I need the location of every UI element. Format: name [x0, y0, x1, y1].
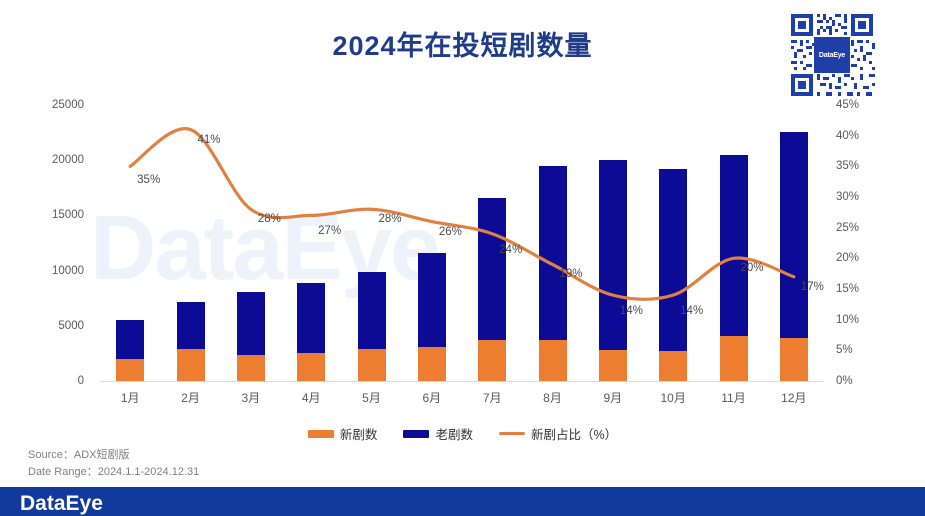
date-range-line: Date Range：2024.1.1-2024.12.31	[28, 464, 199, 481]
legend-item[interactable]: 老剧数	[403, 424, 473, 443]
x-axis-tick-label: 5月	[362, 389, 381, 406]
x-axis-tick-label: 2月	[181, 389, 200, 406]
legend-bar-swatch	[403, 430, 429, 438]
y-axis-left-tick: 20000	[52, 154, 84, 166]
line-point-label: 14%	[620, 305, 643, 317]
y-axis-right-tick: 10%	[836, 314, 859, 326]
line-point-label: 28%	[258, 213, 281, 225]
x-axis-tick-label: 1月	[121, 389, 140, 406]
qr-code[interactable]: DataEye	[786, 9, 878, 101]
y-axis-left-tick: 5000	[58, 320, 84, 332]
line-point-label: 19%	[560, 268, 583, 280]
bottom-brand-bar	[0, 487, 925, 516]
x-axis-tick-label: 12月	[781, 389, 806, 406]
x-axis-tick-label: 8月	[543, 389, 562, 406]
y-axis-right-tick: 25%	[836, 222, 859, 234]
line-point-label: 35%	[137, 174, 160, 186]
legend-line-swatch	[499, 432, 525, 435]
x-axis-labels: 1月2月3月4月5月6月7月8月9月10月11月12月	[100, 389, 824, 411]
axis-baseline	[100, 381, 824, 382]
legend-label: 老剧数	[435, 424, 473, 443]
line-point-label: 24%	[499, 244, 522, 256]
line-point-label: 41%	[198, 134, 221, 146]
source-note: Source：ADX短剧版 Date Range：2024.1.1-2024.1…	[28, 447, 199, 481]
line-point-label: 28%	[379, 213, 402, 225]
y-axis-left-tick: 15000	[52, 209, 84, 221]
y-axis-left-tick: 25000	[52, 99, 84, 111]
y-axis-right-tick: 45%	[836, 99, 859, 111]
y-axis-right: 0%5%10%15%20%25%30%35%40%45%	[828, 105, 898, 381]
legend-bar-swatch	[308, 430, 334, 438]
y-axis-right-tick: 30%	[836, 191, 859, 203]
x-axis-tick-label: 7月	[483, 389, 502, 406]
line-series-layer	[100, 105, 824, 381]
qr-center-logo: DataEye	[814, 37, 850, 73]
x-axis-tick-label: 6月	[422, 389, 441, 406]
x-axis-tick-label: 10月	[660, 389, 685, 406]
y-axis-right-tick: 5%	[836, 344, 853, 356]
line-point-label: 14%	[680, 305, 703, 317]
y-axis-right-tick: 0%	[836, 375, 853, 387]
line-point-label: 26%	[439, 226, 462, 238]
line-point-label: 20%	[741, 262, 764, 274]
x-axis-tick-label: 9月	[603, 389, 622, 406]
legend-item[interactable]: 新剧数	[308, 424, 378, 443]
y-axis-left: 0500010000150002000025000	[0, 105, 92, 381]
y-axis-right-tick: 40%	[836, 130, 859, 142]
legend-label: 新剧数	[340, 424, 378, 443]
line-point-label: 17%	[801, 281, 824, 293]
plot-area: 35%41%28%27%28%26%24%19%14%14%20%17%	[100, 105, 824, 381]
brand-logo: DataEye	[20, 492, 103, 516]
x-axis-tick-label: 11月	[721, 389, 745, 406]
y-axis-left-tick: 0	[78, 375, 84, 387]
y-axis-left-tick: 10000	[52, 265, 84, 277]
line-point-label: 27%	[318, 225, 341, 237]
x-axis-tick-label: 4月	[302, 389, 321, 406]
legend-label: 新剧占比（%）	[531, 424, 617, 443]
legend-item[interactable]: 新剧占比（%）	[499, 424, 617, 443]
chart-legend: 新剧数老剧数新剧占比（%）	[0, 424, 925, 443]
y-axis-right-tick: 35%	[836, 160, 859, 172]
y-axis-right-tick: 15%	[836, 283, 859, 295]
x-axis-tick-label: 3月	[241, 389, 260, 406]
y-axis-right-tick: 20%	[836, 252, 859, 264]
source-line: Source：ADX短剧版	[28, 447, 199, 464]
